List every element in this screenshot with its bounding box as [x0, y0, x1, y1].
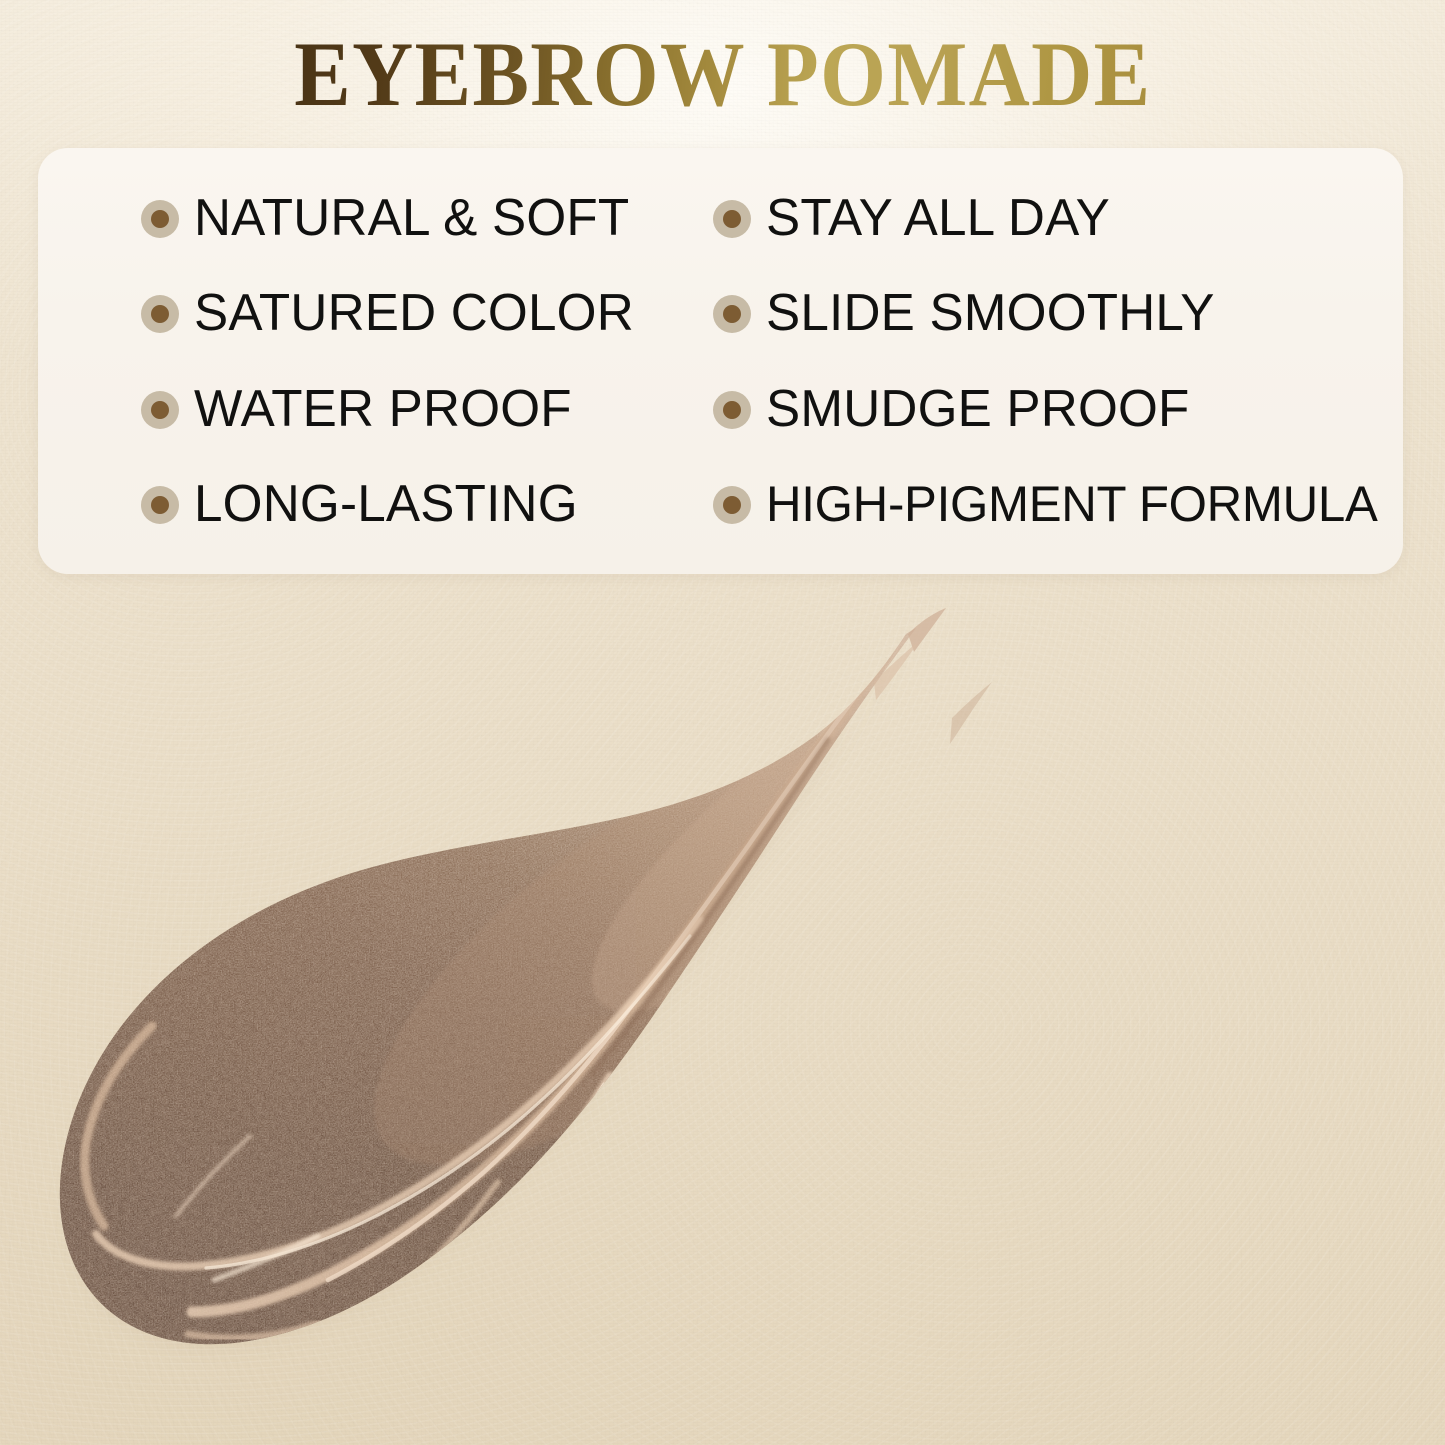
feature-item-long-lasting: LONG-LASTING: [38, 457, 610, 553]
product-marketing-image: EYEBROW POMADE NATURAL & SOFT STAY ALL D…: [0, 0, 1445, 1445]
page-title-container: EYEBROW POMADE: [0, 28, 1445, 120]
feature-label: SMUDGE PROOF: [766, 383, 1190, 435]
bullet-dot-icon: [141, 295, 179, 333]
feature-grid: NATURAL & SOFT STAY ALL DAY SATURED COLO…: [38, 148, 1403, 574]
feature-item-high-pigment-formula: HIGH-PIGMENT FORMULA: [610, 457, 1403, 553]
feature-item-smudge-proof: SMUDGE PROOF: [610, 361, 1403, 457]
page-title: EYEBROW POMADE: [294, 28, 1151, 120]
bullet-dot-icon: [141, 486, 179, 524]
feature-item-slide-smoothly: SLIDE SMOOTHLY: [610, 266, 1403, 362]
feature-label: STAY ALL DAY: [766, 192, 1110, 244]
pomade-swatch-smear: [0, 590, 1445, 1445]
bullet-dot-icon: [713, 295, 751, 333]
swatch-shimmer: [0, 590, 1445, 1445]
bullet-dot-icon: [141, 200, 179, 238]
bullet-dot-icon: [141, 391, 179, 429]
feature-label: LONG-LASTING: [194, 478, 578, 530]
feature-label: NATURAL & SOFT: [194, 192, 629, 244]
feature-label: HIGH-PIGMENT FORMULA: [766, 479, 1378, 529]
swatch-tip-flicks: [874, 608, 992, 744]
bullet-dot-icon: [713, 486, 751, 524]
feature-label: SLIDE SMOOTHLY: [766, 287, 1215, 339]
feature-item-stay-all-day: STAY ALL DAY: [610, 170, 1403, 266]
feature-item-satured-color: SATURED COLOR: [38, 266, 610, 362]
product-swatch-area: [0, 590, 1445, 1445]
feature-label: SATURED COLOR: [194, 287, 634, 339]
bullet-dot-icon: [713, 200, 751, 238]
bullet-dot-icon: [713, 391, 751, 429]
feature-item-natural-soft: NATURAL & SOFT: [38, 170, 610, 266]
feature-item-water-proof: WATER PROOF: [38, 361, 610, 457]
feature-label: WATER PROOF: [194, 383, 572, 435]
feature-list-card: NATURAL & SOFT STAY ALL DAY SATURED COLO…: [38, 148, 1403, 574]
